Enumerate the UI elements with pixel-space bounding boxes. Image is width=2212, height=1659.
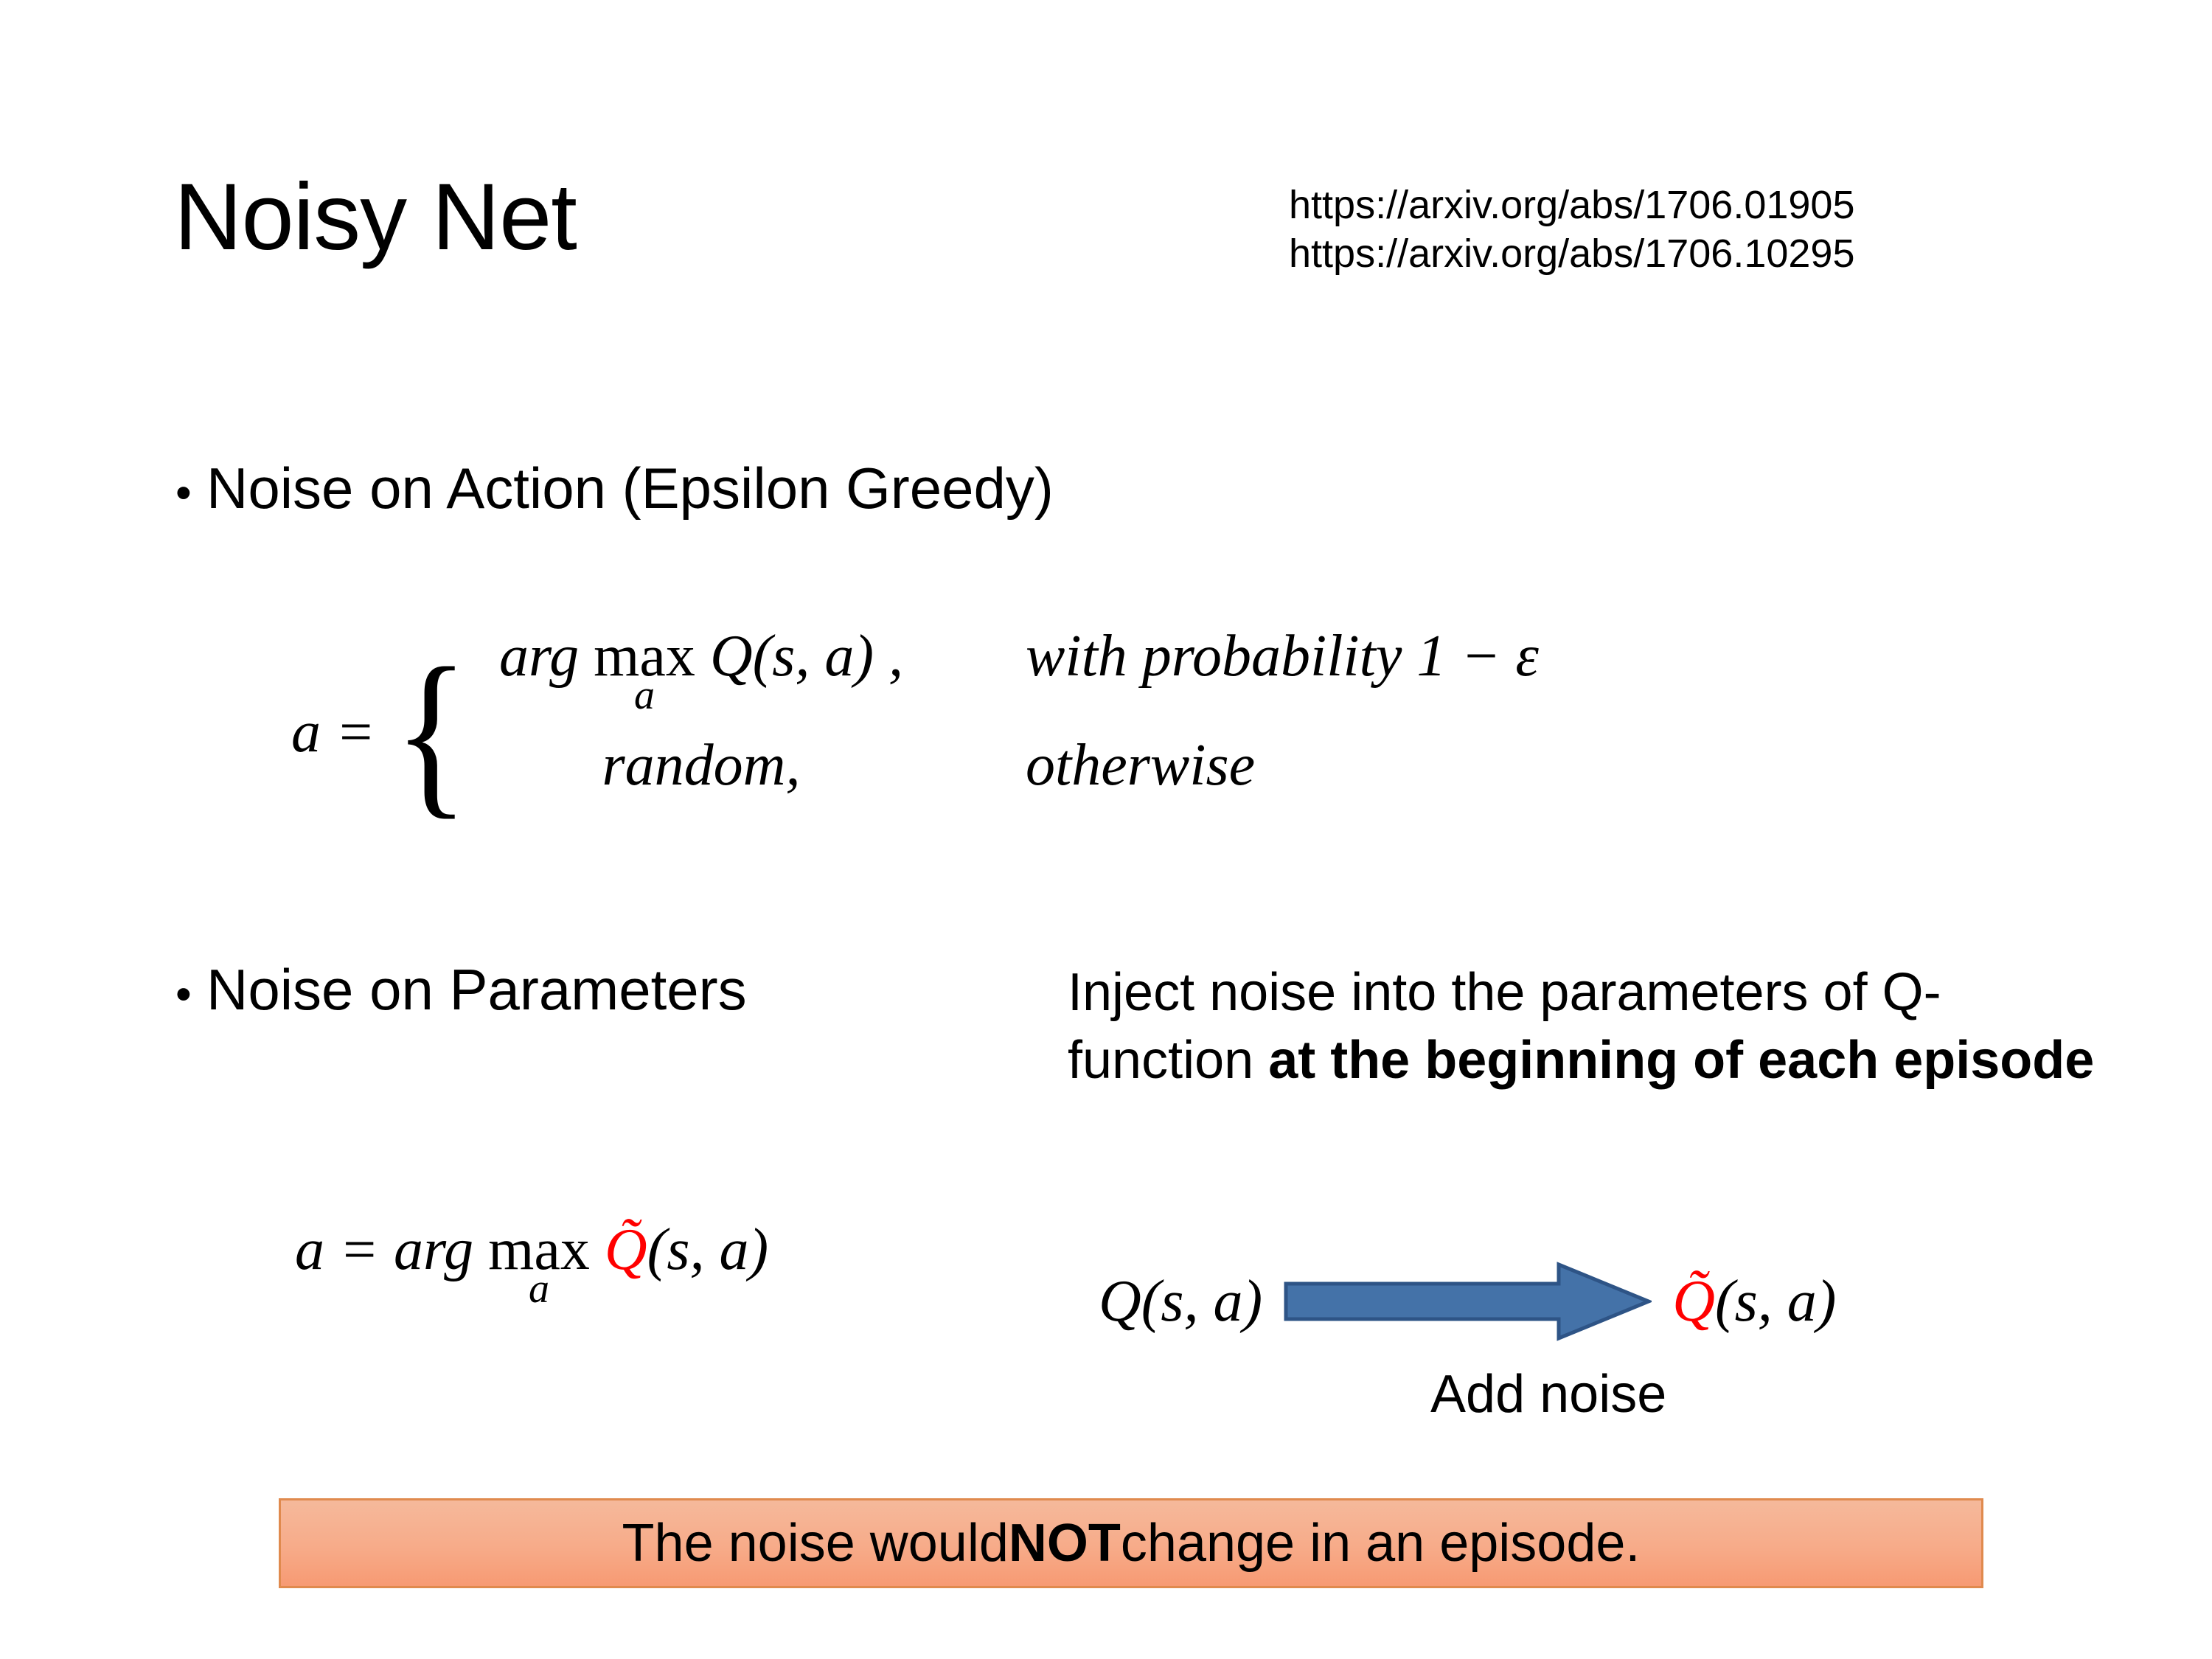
equation-noisy-lhs: a = arg [295,1217,473,1282]
case-row-random: random, otherwise [480,732,1539,841]
transform-diagram: Q(s, a) Q̃(s, a) [1099,1257,1836,1346]
case-value-argmax: arg max a Q(s, a) , [480,623,922,690]
piecewise-cases: arg max a Q(s, a) , with probability 1 −… [480,623,1539,841]
bullet-marker-icon: • [175,470,206,516]
slide-canvas: Noisy Net https://arxiv.org/abs/1706.019… [0,0,2212,1659]
max-operator-2: max a [488,1217,590,1284]
noisy-q-symbol: Q̃ [605,1217,647,1282]
bullet-label-noise-on-parameters: Noise on Parameters [206,959,747,1022]
max-operator-1: max a [594,623,695,690]
reference-link-1[interactable]: https://arxiv.org/abs/1706.01905 [1289,181,1855,230]
bullet-noise-on-parameters: • Noise on Parameters [175,959,747,1022]
bullet-label-noise-on-action: Noise on Action (Epsilon Greedy) [206,457,1054,521]
callout-banner: The noise would NOT change in an episode… [279,1498,1983,1588]
callout-text-before: The noise would [622,1513,1009,1573]
diagram-source-q: Q(s, a) [1099,1268,1262,1335]
max-operator-subscript-2: a [529,1265,549,1312]
case-row-argmax: arg max a Q(s, a) , with probability 1 −… [480,623,1539,732]
case-condition-otherwise: otherwise [922,732,1255,799]
add-noise-label: Add noise [1430,1364,1666,1425]
case-condition-probability: with probability 1 − ε [922,623,1539,690]
page-title: Noisy Net [174,168,577,267]
equation-noisy-argmax: a = arg max a Q̃(s, a) [295,1217,768,1284]
case-argmax-prefix: arg [499,624,579,689]
reference-links: https://arxiv.org/abs/1706.01905 https:/… [1289,181,1855,279]
callout-text-after: change in an episode. [1121,1513,1641,1573]
callout-text-bold: NOT [1009,1513,1121,1573]
diagram-target-q: Q̃(s, a) [1672,1268,1836,1335]
reference-link-2[interactable]: https://arxiv.org/abs/1706.10295 [1289,230,1855,279]
bullet-marker-icon-2: • [175,972,206,1018]
equation-epsilon-greedy: a = { arg max a Q(s, a) , with probabili… [291,623,1539,841]
inject-noise-note: Inject noise into the parameters of Q-fu… [1068,959,2115,1094]
add-noise-arrow-icon [1283,1257,1652,1346]
case-value-random: random, [480,732,922,799]
noisy-q-args: (s, a) [647,1217,768,1282]
max-operator-subscript-1: a [634,672,655,719]
case-argmax-suffix: Q(s, a) , [710,624,903,689]
equation-epsilon-lhs: a = [291,699,387,766]
diagram-target-q-args: (s, a) [1715,1269,1836,1334]
bullet-noise-on-action: • Noise on Action (Epsilon Greedy) [175,457,1054,521]
piecewise-brace: { [394,661,469,804]
inject-note-bold: at the beginning of each episode [1268,1031,2094,1090]
diagram-target-q-symbol: Q̃ [1672,1269,1715,1334]
